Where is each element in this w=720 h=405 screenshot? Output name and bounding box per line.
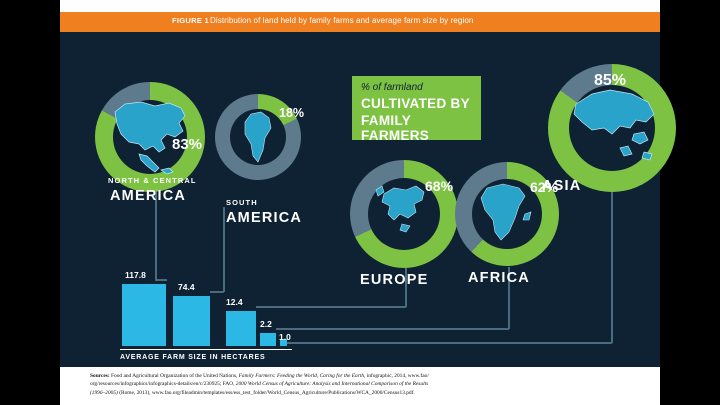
percent-europe: 68% xyxy=(425,178,453,194)
connector-europe-h xyxy=(256,306,406,308)
label-south-america-small: SOUTH xyxy=(226,198,258,207)
sources-line-3: (1996–2005) (Rome, 2013), www.fao.org/fi… xyxy=(90,389,630,397)
bar-axis-line xyxy=(120,349,292,350)
sources-label: Sources: xyxy=(90,373,110,379)
bar-south-america xyxy=(173,296,210,346)
callout-line-3: FAMILY FARMERS xyxy=(361,113,481,143)
percent-north-central-america: 83% xyxy=(172,136,202,153)
callout-line-1: % of farmland xyxy=(361,82,423,93)
figure-number: FIGURE 1 xyxy=(172,16,209,25)
label-south-america: AMERICA xyxy=(226,210,302,226)
bar-chart-caption: AVERAGE FARM SIZE IN HECTARES xyxy=(120,354,265,361)
label-europe: EUROPE xyxy=(360,272,428,288)
page-sheet: FIGURE 1 Distribution of land held by fa… xyxy=(60,0,660,405)
connector-asia-h xyxy=(287,342,612,344)
screenshot-root: FIGURE 1 Distribution of land held by fa… xyxy=(0,0,720,405)
connector-south-america xyxy=(223,207,225,292)
map-europe-icon xyxy=(350,160,458,268)
bar-value-asia: 1.0 xyxy=(279,332,291,342)
bar-europe xyxy=(226,311,256,346)
connector-south-america-h xyxy=(210,291,224,293)
label-africa: AFRICA xyxy=(468,270,530,286)
figure-banner: FIGURE 1 Distribution of land held by fa… xyxy=(60,12,660,32)
sources-block: Sources: Food and Agricultural Organizat… xyxy=(60,370,660,397)
percent-south-america: 18% xyxy=(279,106,304,120)
donut-europe xyxy=(350,160,458,268)
sources-line-2: org/resources/infographics/infographics-… xyxy=(90,380,630,388)
callout-line-2: CULTIVATED BY xyxy=(361,96,470,111)
callout-box: % of farmland CULTIVATED BY FAMILY FARME… xyxy=(352,76,481,140)
bar-value-africa: 2.2 xyxy=(260,319,272,329)
sources-line-1-text: Food and Agricultural Organization of th… xyxy=(110,373,429,379)
sources-line-1: Sources: Food and Agricultural Organizat… xyxy=(90,372,630,380)
figure-title: Distribution of land held by family farm… xyxy=(210,16,473,25)
infographic-panel: % of farmland CULTIVATED BY FAMILY FARME… xyxy=(60,32,660,367)
bar-africa xyxy=(260,333,276,346)
label-north-central-america: AMERICA xyxy=(110,188,186,204)
connector-asia xyxy=(611,182,613,343)
connector-africa-h xyxy=(276,328,509,330)
bar-north-central-america xyxy=(122,284,166,346)
label-north-central-america-small: NORTH & CENTRAL xyxy=(108,176,197,185)
connector-north-america-h xyxy=(155,279,167,281)
label-asia: ASIA xyxy=(542,178,581,194)
bar-value-south-america: 74.4 xyxy=(178,282,195,292)
bar-value-north-central-america: 117.8 xyxy=(125,270,146,280)
percent-asia: 85% xyxy=(594,72,626,90)
bar-value-europe: 12.4 xyxy=(226,297,243,307)
